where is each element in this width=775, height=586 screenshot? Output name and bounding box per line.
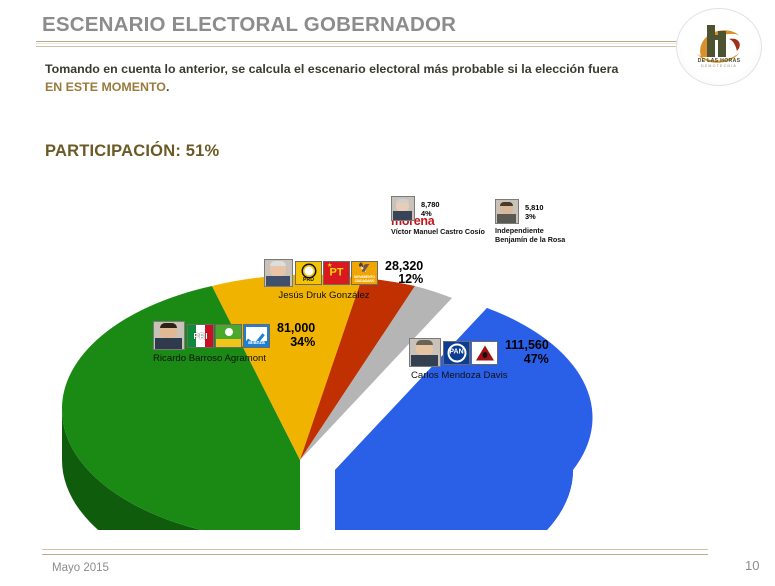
morena-votes: 8,780 (421, 200, 440, 209)
pan-figures: 111,560 47% (505, 339, 549, 366)
candidate-name-prd: Jesús Druk González (264, 290, 384, 301)
pie-chart-svg (0, 170, 775, 530)
intro-period: . (166, 80, 169, 94)
footer-divider (42, 549, 708, 555)
callout-independiente-row: 5,810 3% (495, 199, 565, 224)
candidate-name-morena: Víctor Manuel Castro Cosío (391, 227, 485, 236)
pri-percent: 34% (277, 336, 315, 350)
humanista-logo-icon (471, 341, 498, 365)
party-logos-prd: PRD ★ PT 🦅 MOVIMIENTO CIUDADANO (295, 261, 378, 285)
callout-pan: PAN 111,560 47% Carlos Mendoza Davis (409, 338, 549, 381)
intro-highlight: EN ESTE MOMENTO (45, 80, 166, 94)
callout-independiente: 5,810 3% Independiente Benjamín de la Ro… (495, 199, 565, 244)
page-title: ESCENARIO ELECTORAL GOBERNADOR (42, 13, 456, 37)
pie-chart (0, 170, 775, 530)
callout-prd-row: PRD ★ PT 🦅 MOVIMIENTO CIUDADANO 28,320 1… (264, 259, 423, 287)
callout-pri: PRI alianza 81,000 34% Ricardo Barroso A… (153, 321, 315, 364)
participation-label: PARTICIPACIÓN: 51% (45, 142, 219, 161)
candidate-photo-independiente (495, 199, 519, 224)
candidate-name-pan: Carlos Mendoza Davis (411, 370, 549, 381)
slide: ESCENARIO ELECTORAL GOBERNADOR DE LAS HO… (0, 0, 775, 586)
pri-logo-label: PRI (188, 331, 213, 341)
independiente-figures: 5,810 3% (525, 203, 544, 221)
pri-votes: 81,000 (277, 322, 315, 336)
pri-logo-icon: PRI (187, 324, 214, 348)
logo-text-secondary: DEMOTECNIA (677, 64, 761, 68)
candidate-photo-pan (409, 338, 441, 367)
prd-logo-icon: PRD (295, 261, 322, 285)
logo-mark-icon (677, 9, 761, 85)
party-logos-pri: PRI alianza (187, 324, 270, 348)
pvem-logo-icon (215, 324, 242, 348)
candidate-photo-prd (264, 259, 293, 287)
independiente-votes: 5,810 (525, 203, 544, 212)
callout-pan-row: PAN 111,560 47% (409, 338, 549, 367)
prd-figures: 28,320 12% (385, 260, 423, 287)
party-label-independiente: Independiente (495, 226, 565, 235)
pan-percent: 47% (505, 353, 549, 367)
independiente-percent: 3% (525, 212, 544, 221)
prd-percent: 12% (385, 273, 423, 287)
candidate-name-independiente: Benjamín de la Rosa (495, 235, 565, 244)
nueva-alianza-logo-icon: alianza (243, 324, 270, 348)
intro-paragraph: Tomando en cuenta lo anterior, se calcul… (45, 60, 665, 96)
pan-votes: 111,560 (505, 339, 549, 353)
party-logos-pan: PAN (443, 341, 498, 365)
intro-line-1: Tomando en cuenta lo anterior, se calcul… (45, 62, 618, 76)
pt-logo-label: PT (324, 268, 349, 279)
pt-logo-icon: ★ PT (323, 261, 350, 285)
footer-date: Mayo 2015 (52, 562, 109, 574)
callout-morena: 8,780 4% morena Víctor Manuel Castro Cos… (391, 196, 485, 236)
mc-logo-icon: 🦅 MOVIMIENTO CIUDADANO (351, 261, 378, 285)
footer-page-number: 10 (745, 558, 759, 573)
na-logo-label: alianza (244, 340, 269, 347)
prd-logo-label: PRD (296, 277, 321, 284)
callout-pri-row: PRI alianza 81,000 34% (153, 321, 315, 350)
mc-logo-label: MOVIMIENTO CIUDADANO (352, 275, 377, 283)
candidate-photo-morena (391, 196, 415, 221)
pri-figures: 81,000 34% (277, 322, 315, 349)
company-logo: DE LAS HORAS DEMOTECNIA (676, 8, 762, 86)
pan-logo-icon: PAN (443, 341, 470, 365)
header-divider (36, 41, 708, 47)
candidate-photo-pri (153, 321, 185, 350)
prd-votes: 28,320 (385, 260, 423, 274)
callout-prd: PRD ★ PT 🦅 MOVIMIENTO CIUDADANO 28,320 1… (264, 259, 423, 301)
candidate-name-pri: Ricardo Barroso Agramont (153, 353, 315, 364)
pan-logo-label: PAN (447, 343, 466, 362)
